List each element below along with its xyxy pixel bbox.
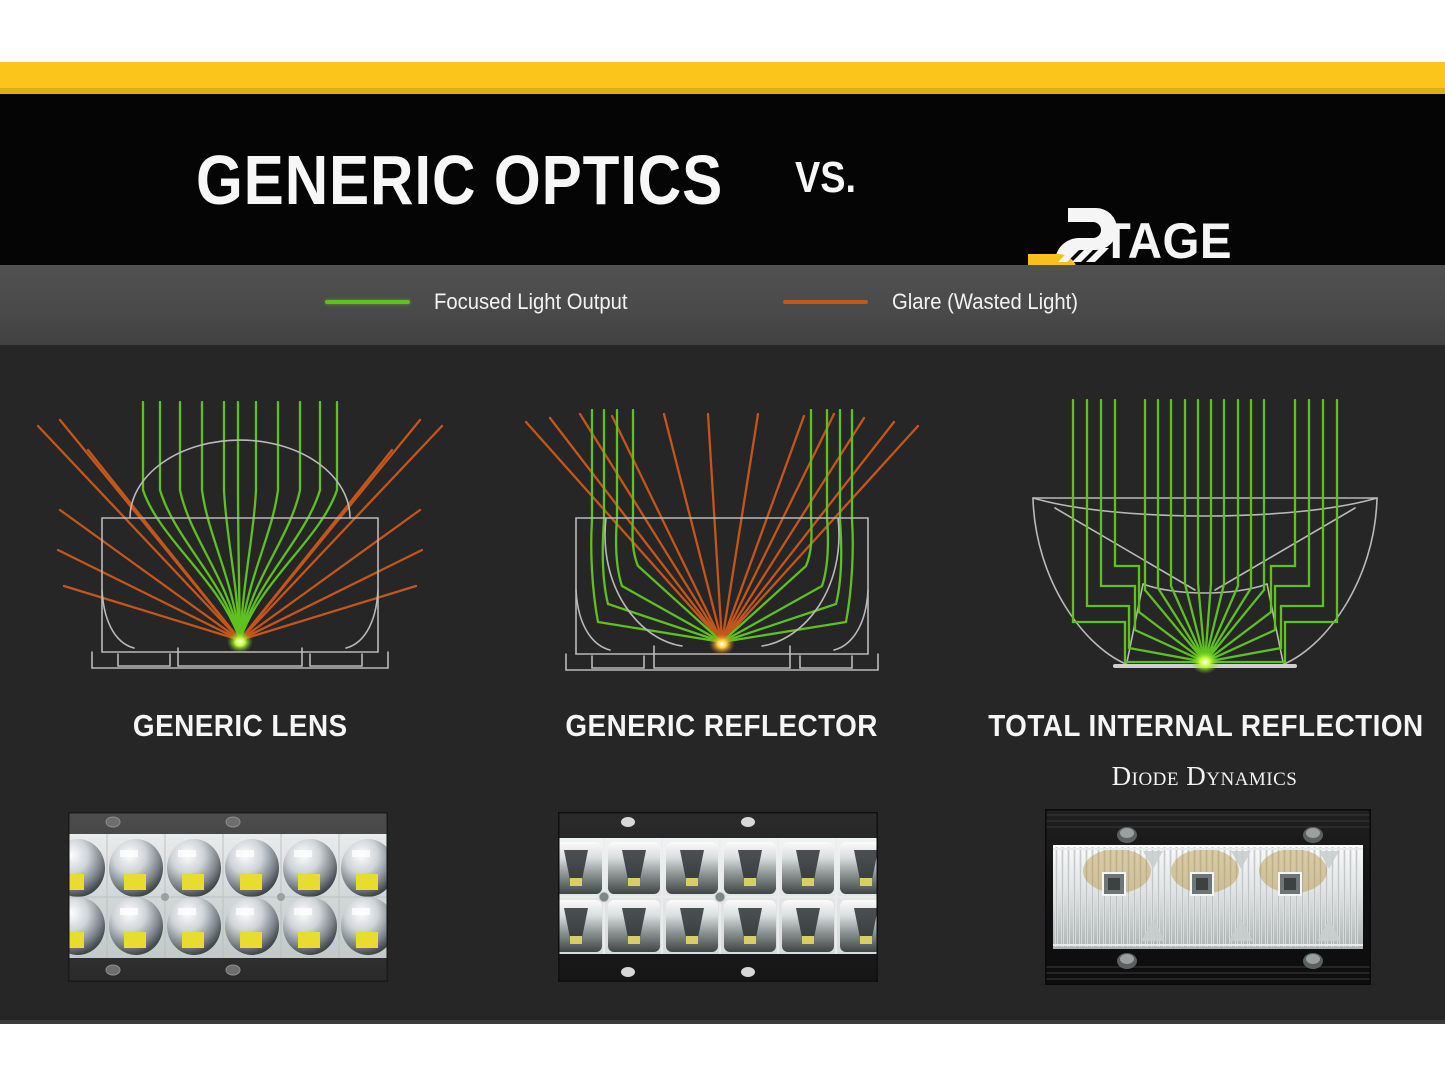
column-label-text: GENERIC REFLECTOR xyxy=(566,710,879,741)
page-title: GENERIC OPTICS xyxy=(196,132,716,228)
column-generic-reflector: GENERIC REFLECTOR xyxy=(482,345,962,1024)
generic-lens-raytrace xyxy=(0,390,480,700)
logo-word-stage: TAGE xyxy=(1102,214,1232,269)
legend-item-glare: Glare (Wasted Light) xyxy=(783,291,1094,313)
legend: Focused Light Output Glare (Wasted Light… xyxy=(0,265,1445,345)
versus-label: VS. xyxy=(795,156,866,200)
glare-rays xyxy=(526,414,918,642)
generic-lens-lightbar-photo xyxy=(68,812,388,982)
focused-rays xyxy=(1073,400,1337,662)
stage-series-lightbar-photo xyxy=(1045,809,1371,985)
page-title-text: GENERIC OPTICS xyxy=(196,145,723,215)
versus-text: VS. xyxy=(795,156,856,200)
header-band: GENERIC OPTICS VS. TAGE xyxy=(0,94,1445,265)
focused-rays xyxy=(143,402,337,640)
line-swatch-icon xyxy=(325,300,410,304)
brand-wordmark: Diode Dynamics xyxy=(964,763,1445,790)
column-label-text: GENERIC LENS xyxy=(133,710,348,741)
column-total-internal-reflection: TOTAL INTERNAL REFLECTION Diode Dynamics xyxy=(964,345,1445,1024)
column-label-text: TOTAL INTERNAL REFLECTION xyxy=(988,710,1423,741)
emitter-hotspot xyxy=(227,631,253,653)
tir-outline xyxy=(1033,498,1377,666)
column-label-generic-lens: GENERIC LENS xyxy=(0,710,480,741)
line-swatch-icon xyxy=(783,300,868,304)
legend-label-glare: Glare (Wasted Light) xyxy=(892,291,1078,313)
emitter-hotspot xyxy=(709,633,735,655)
tir-optic-raytrace xyxy=(964,390,1445,700)
generic-reflector-raytrace xyxy=(482,390,962,700)
generic-reflector-lightbar-photo xyxy=(558,812,878,982)
column-label-generic-reflector: GENERIC REFLECTOR xyxy=(482,710,962,741)
column-label-tir: TOTAL INTERNAL REFLECTION xyxy=(964,710,1445,741)
emitter-hotspot xyxy=(1191,650,1219,674)
column-generic-lens: GENERIC LENS xyxy=(0,345,480,1024)
legend-label-focused: Focused Light Output xyxy=(434,291,628,313)
brand-wordmark-text: Diode Dynamics xyxy=(1112,761,1298,791)
legend-item-focused: Focused Light Output xyxy=(325,291,644,313)
infographic-page: GENERIC OPTICS VS. TAGE xyxy=(0,0,1445,1089)
